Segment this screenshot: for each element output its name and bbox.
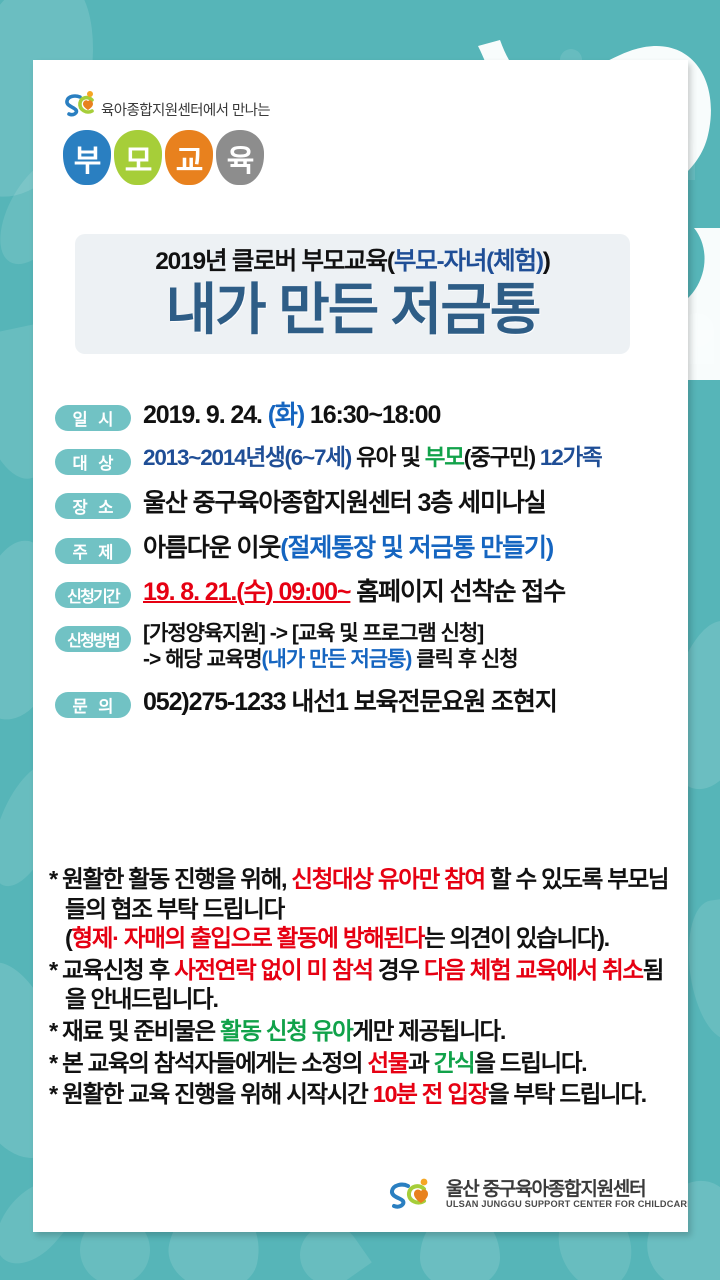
info-list: 일 시2019. 9. 24. (화) 16:30~18:00대 상2013~2…: [55, 400, 680, 731]
info-value: 2013~2014년생(6~7세) 유아 및 부모(중구민) 12가족: [143, 444, 602, 472]
notice-list: * 원활한 활동 진행을 위해, 신청대상 유아만 참여 할 수 있도록 부모님…: [49, 865, 681, 1112]
title-sub-highlight: 부모-자녀(체험): [394, 248, 543, 275]
text-run: * 재료 및 준비물은: [49, 1018, 220, 1044]
text-run: 간식: [434, 1050, 475, 1076]
brand-circle-group: 부모교육: [63, 130, 270, 185]
text-run: -> 해당 교육명: [143, 648, 262, 671]
info-row: 주 제아름다운 이웃(절제통장 및 저금통 만들기): [55, 533, 680, 564]
brand-circle-0: 부: [63, 130, 111, 185]
info-value: [가정양육지원] -> [교육 및 프로그램 신청] -> 해당 교육명(내가 …: [143, 621, 518, 674]
footer-logo-name-en: ULSAN JUNGGU SUPPORT CENTER FOR CHILDCAR…: [446, 1200, 688, 1210]
text-run: 을 드립니다.: [474, 1050, 586, 1076]
info-row: 신청기간19. 8. 21.(수) 09:00~ 홈페이지 선착순 접수: [55, 577, 680, 608]
notice-item: * 교육신청 후 사전연락 없이 미 참석 경우 다음 체험 교육에서 취소됨을…: [49, 956, 681, 1015]
notice-item: * 원활한 교육 진행을 위해 시작시간 10분 전 입장을 부탁 드립니다.: [49, 1080, 681, 1110]
text-run: 부모: [425, 445, 464, 470]
text-run: (내가 만든 저금통): [262, 648, 412, 671]
title-panel: 2019년 클로버 부모교육(부모-자녀(체험)) 내가 만든 저금통: [75, 234, 630, 354]
text-run: * 원활한 교육 진행을 위해 시작시간: [49, 1081, 373, 1107]
poster-canvas: 육아종합지원센터에서 만나는 부모교육 2019년 클로버 부모교육(부모-자녀…: [0, 0, 720, 1280]
info-row: 신청방법[가정양육지원] -> [교육 및 프로그램 신청] -> 해당 교육명…: [55, 621, 680, 674]
brand-circle-2: 교: [165, 130, 213, 185]
text-run: 다음 체험 교육에서 취소: [424, 957, 643, 983]
info-value: 울산 중구육아종합지원센터 3층 세미나실: [143, 488, 546, 519]
text-run: 경우: [373, 957, 424, 983]
text-run: 16:30~18:00: [304, 401, 440, 429]
text-run: * 본 교육의 참석자들에게는 소정의: [49, 1050, 367, 1076]
brand-circle-1: 모: [114, 130, 162, 185]
info-row: 장 소울산 중구육아종합지원센터 3층 세미나실: [55, 488, 680, 519]
text-run: 052)275-1233 내선1 보육전문요원 조현지: [143, 688, 557, 716]
text-run: 게만 제공됩니다.: [352, 1018, 505, 1044]
text-run: 10분 전 입장: [373, 1081, 488, 1107]
footer-logo: 울산 중구육아종합지원센터 ULSAN JUNGGU SUPPORT CENTE…: [388, 1178, 688, 1212]
text-run: 울산 중구육아종합지원센터 3층 세미나실: [143, 489, 546, 517]
text-run: * 원활한 활동 진행을 위해,: [49, 866, 291, 892]
title-sub-suffix: ): [543, 248, 550, 275]
info-value: 아름다운 이웃(절제통장 및 저금통 만들기): [143, 533, 553, 564]
info-value: 2019. 9. 24. (화) 16:30~18:00: [143, 400, 440, 431]
info-label-pill: 일 시: [55, 405, 131, 431]
brand-tagline: 육아종합지원센터에서 만나는: [101, 99, 270, 122]
info-row: 대 상2013~2014년생(6~7세) 유아 및 부모(중구민) 12가족: [55, 444, 680, 475]
text-run: 과: [408, 1050, 434, 1076]
text-run: 유아 및: [351, 445, 425, 470]
text-run: [가정양육지원] -> [교육 및 프로그램 신청]: [143, 622, 483, 645]
text-run: 홈페이지 선착순 접수: [350, 578, 565, 606]
content-card: 육아종합지원센터에서 만나는 부모교육 2019년 클로버 부모교육(부모-자녀…: [33, 60, 688, 1232]
text-run: 활동 신청 유아: [220, 1018, 352, 1044]
info-label-pill: 장 소: [55, 493, 131, 519]
text-run: 2013~2014년생(6~7세): [143, 445, 351, 470]
notice-item: * 재료 및 준비물은 활동 신청 유아게만 제공됩니다.: [49, 1017, 681, 1047]
sc-childcare-logo-icon: [63, 90, 97, 122]
text-run: 는 의견이 있습니다).: [424, 925, 609, 951]
notice-item: * 원활한 활동 진행을 위해, 신청대상 유아만 참여 할 수 있도록 부모님…: [49, 865, 681, 954]
info-row: 문 의052)275-1233 내선1 보육전문요원 조현지: [55, 687, 680, 718]
info-row: 일 시2019. 9. 24. (화) 16:30~18:00: [55, 400, 680, 431]
info-label-pill: 신청기간: [55, 582, 131, 608]
title-sub-prefix: 2019년 클로버 부모교육(: [155, 248, 394, 275]
info-value: 052)275-1233 내선1 보육전문요원 조현지: [143, 687, 557, 718]
text-run: (화): [268, 401, 304, 429]
footer-logo-name-ko: 울산 중구육아종합지원센터: [446, 1180, 688, 1200]
text-run: 아름다운 이웃: [143, 534, 280, 562]
brand-lockup: 육아종합지원센터에서 만나는 부모교육: [63, 88, 270, 185]
brand-circle-3: 육: [216, 130, 264, 185]
text-run: (중구민): [464, 445, 535, 470]
info-label-pill: 대 상: [55, 449, 131, 475]
text-run: 신청대상 유아만 참여: [291, 866, 484, 892]
text-run: 12가족: [535, 445, 602, 470]
sc-childcare-logo-icon: [388, 1178, 440, 1212]
info-label-pill: 신청방법: [55, 626, 131, 652]
title-subtitle: 2019년 클로버 부모교육(부모-자녀(체험)): [85, 242, 620, 277]
info-label-pill: 문 의: [55, 692, 131, 718]
info-label-pill: 주 제: [55, 538, 131, 564]
text-run: 클릭 후 신청: [411, 648, 517, 671]
text-run: 사전연락 없이 미 참석: [174, 957, 373, 983]
text-run: 선물: [367, 1050, 408, 1076]
text-run: 2019. 9. 24.: [143, 401, 268, 429]
text-run: 을 부탁 드립니다.: [488, 1081, 646, 1107]
text-run: (절제통장 및 저금통 만들기): [280, 534, 553, 562]
page-title: 내가 만든 저금통: [85, 279, 620, 342]
text-run: * 교육신청 후: [49, 957, 174, 983]
info-value: 19. 8. 21.(수) 09:00~ 홈페이지 선착순 접수: [143, 577, 565, 608]
text-run: 19. 8. 21.(수) 09:00~: [143, 578, 350, 606]
notice-item: * 본 교육의 참석자들에게는 소정의 선물과 간식을 드립니다.: [49, 1049, 681, 1079]
text-run: 형제· 자매의 출입으로 활동에 방해된다: [72, 925, 425, 951]
